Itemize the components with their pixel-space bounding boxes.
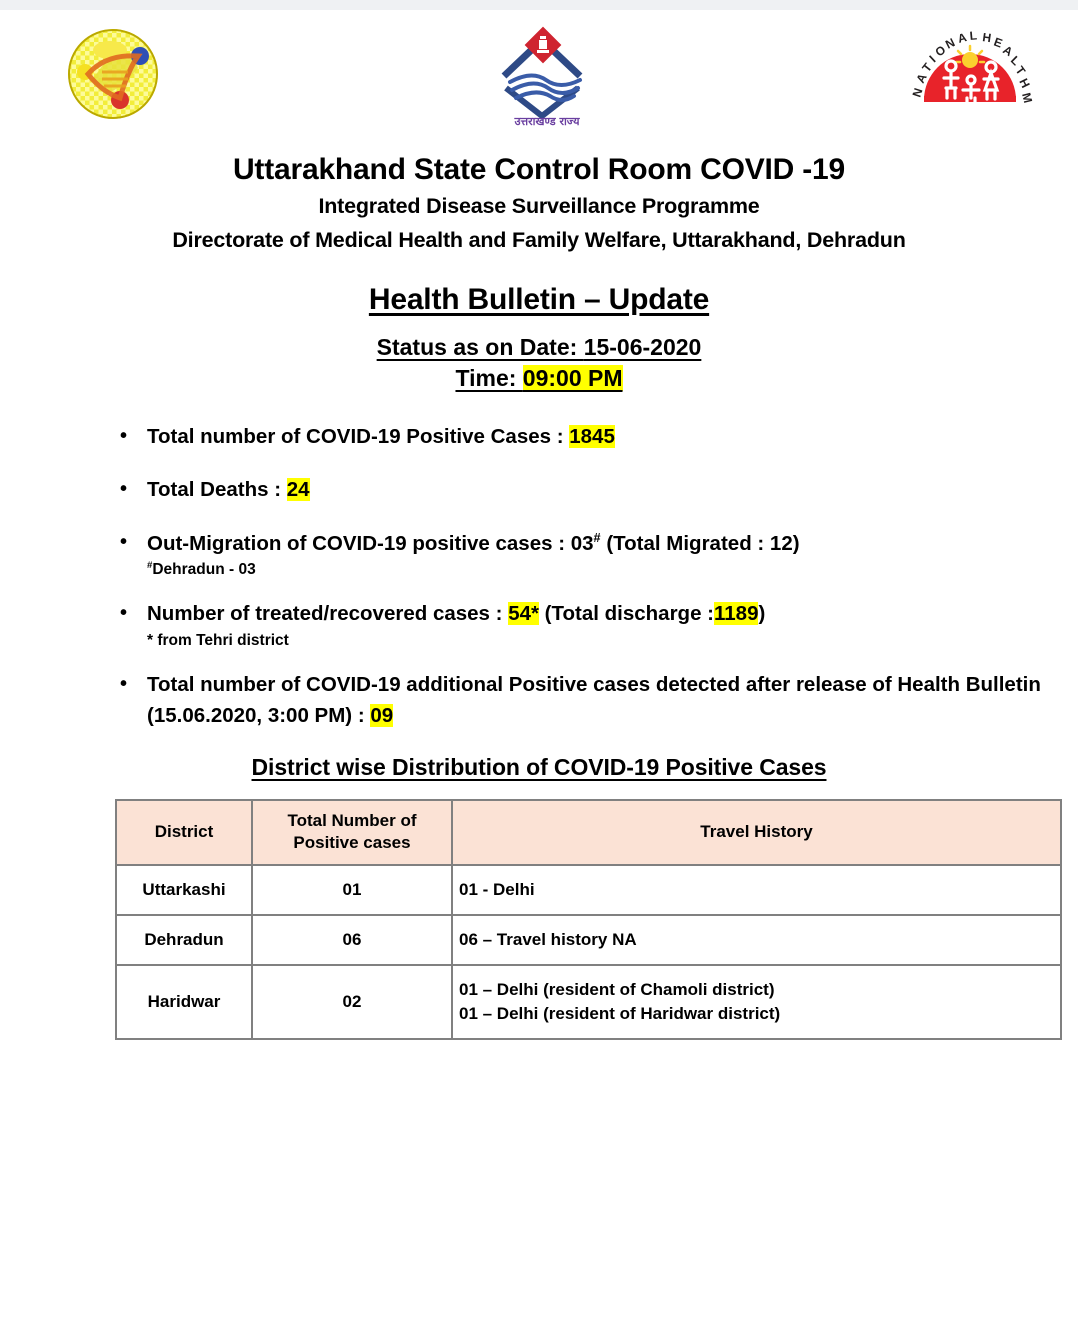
table-row: Dehradun 06 06 – Travel history NA: [116, 915, 1061, 965]
status-time-value: 09:00 PM: [523, 365, 623, 391]
cell-count: 02: [252, 965, 452, 1039]
additional-cases-label: Total number of COVID-19 additional Posi…: [147, 673, 1041, 727]
svg-text:N: N: [910, 86, 926, 99]
total-discharge-value: 1189: [714, 602, 758, 625]
table-body: Uttarkashi 01 01 - Delhi Dehradun 06 06 …: [116, 865, 1061, 1040]
total-positive-label: Total number of COVID-19 Positive Cases …: [147, 425, 569, 448]
status-date-line: Status as on Date: 15-06-2020: [0, 334, 1078, 361]
uttarakhand-state-emblem: उत्तराखण्ड राज्य: [484, 24, 610, 128]
cell-district: Uttarkashi: [116, 865, 252, 915]
travel-line: 01 – Delhi (resident of Chamoli district…: [459, 978, 1054, 1002]
status-time-label: Time:: [455, 365, 522, 391]
page-subtitle-directorate: Directorate of Medical Health and Family…: [0, 228, 1078, 253]
table-row: Haridwar 02 01 – Delhi (resident of Cham…: [116, 965, 1061, 1039]
cell-travel-history: 06 – Travel history NA: [452, 915, 1061, 965]
recovered-footnote: * from Tehri district: [147, 631, 1078, 651]
travel-line: 01 – Delhi (resident of Haridwar distric…: [459, 1002, 1054, 1026]
total-deaths-label: Total Deaths :: [147, 478, 287, 501]
top-strip: [0, 0, 1078, 10]
idsp-logo: [58, 24, 168, 124]
cell-district: Dehradun: [116, 915, 252, 965]
out-migration-label: Out-Migration of COVID-19 positive cases…: [147, 531, 594, 554]
bullet-recovered-cases: Number of treated/recovered cases : 54* …: [0, 599, 1078, 651]
bulletin-title: Health Bulletin – Update: [0, 283, 1078, 317]
table-header-row: District Total Number ofPositive cases T…: [116, 800, 1061, 865]
additional-cases-value: 09: [370, 704, 393, 727]
column-header-travel-history: Travel History: [452, 800, 1061, 865]
recovered-label: Number of treated/recovered cases :: [147, 602, 508, 625]
bulletin-title-block: Health Bulletin – Update Status as on Da…: [0, 283, 1078, 392]
svg-text:M: M: [1019, 91, 1034, 104]
recovered-tail: ): [758, 602, 765, 625]
svg-text:उत्तराखण्ड राज्य: उत्तराखण्ड राज्य: [514, 115, 581, 128]
national-health-mission-logo: राष्ट्रीय स्वास्थ्य मिशन N A T I O N A L…: [906, 24, 1034, 126]
page-subtitle-programme: Integrated Disease Surveillance Programm…: [0, 194, 1078, 219]
column-header-total-positive: Total Number ofPositive cases: [252, 800, 452, 865]
footnote-hash-text: Dehradun - 03: [152, 561, 255, 578]
recovered-mid: (Total discharge :: [539, 602, 714, 625]
status-date-label: Status as on Date:: [377, 334, 584, 360]
district-distribution-table: District Total Number ofPositive cases T…: [115, 799, 1062, 1040]
table-row: Uttarkashi 01 01 - Delhi: [116, 865, 1061, 915]
cell-count: 06: [252, 915, 452, 965]
total-positive-value: 1845: [569, 425, 615, 448]
district-table-title: District wise Distribution of COVID-19 P…: [0, 754, 1078, 781]
status-date-value: 15-06-2020: [584, 334, 702, 360]
page-title: Uttarakhand State Control Room COVID -19: [0, 152, 1078, 187]
bullet-out-migration: Out-Migration of COVID-19 positive cases…: [0, 528, 1078, 581]
travel-line: 06 – Travel history NA: [459, 928, 1054, 952]
bullet-additional-cases: Total number of COVID-19 additional Posi…: [0, 670, 1078, 732]
column-header-line2: Positive cases: [293, 833, 410, 852]
svg-text:L: L: [969, 28, 978, 43]
logo-row: उत्तराखण्ड राज्य: [0, 10, 1078, 128]
out-migration-footnote: #Dehradun - 03: [147, 560, 1078, 580]
document-page: उत्तराखण्ड राज्य: [0, 10, 1078, 1330]
recovered-value: 54*: [508, 602, 539, 625]
out-migration-tail: (Total Migrated : 12): [601, 531, 800, 554]
column-header-district: District: [116, 800, 252, 865]
total-deaths-value: 24: [287, 478, 310, 501]
out-migration-superscript: #: [594, 530, 601, 545]
status-time-line: Time: 09:00 PM: [0, 365, 1078, 392]
cell-count: 01: [252, 865, 452, 915]
column-header-line1: Total Number of: [287, 811, 416, 830]
bullet-total-deaths: Total Deaths : 24: [0, 475, 1078, 506]
summary-bullet-list: Total number of COVID-19 Positive Cases …: [0, 422, 1078, 732]
cell-travel-history: 01 - Delhi: [452, 865, 1061, 915]
cell-travel-history: 01 – Delhi (resident of Chamoli district…: [452, 965, 1061, 1039]
cell-district: Haridwar: [116, 965, 252, 1039]
travel-line: 01 - Delhi: [459, 878, 1054, 902]
table-header: District Total Number ofPositive cases T…: [116, 800, 1061, 865]
svg-text:H: H: [1016, 76, 1032, 90]
bullet-total-positive-cases: Total number of COVID-19 Positive Cases …: [0, 422, 1078, 453]
